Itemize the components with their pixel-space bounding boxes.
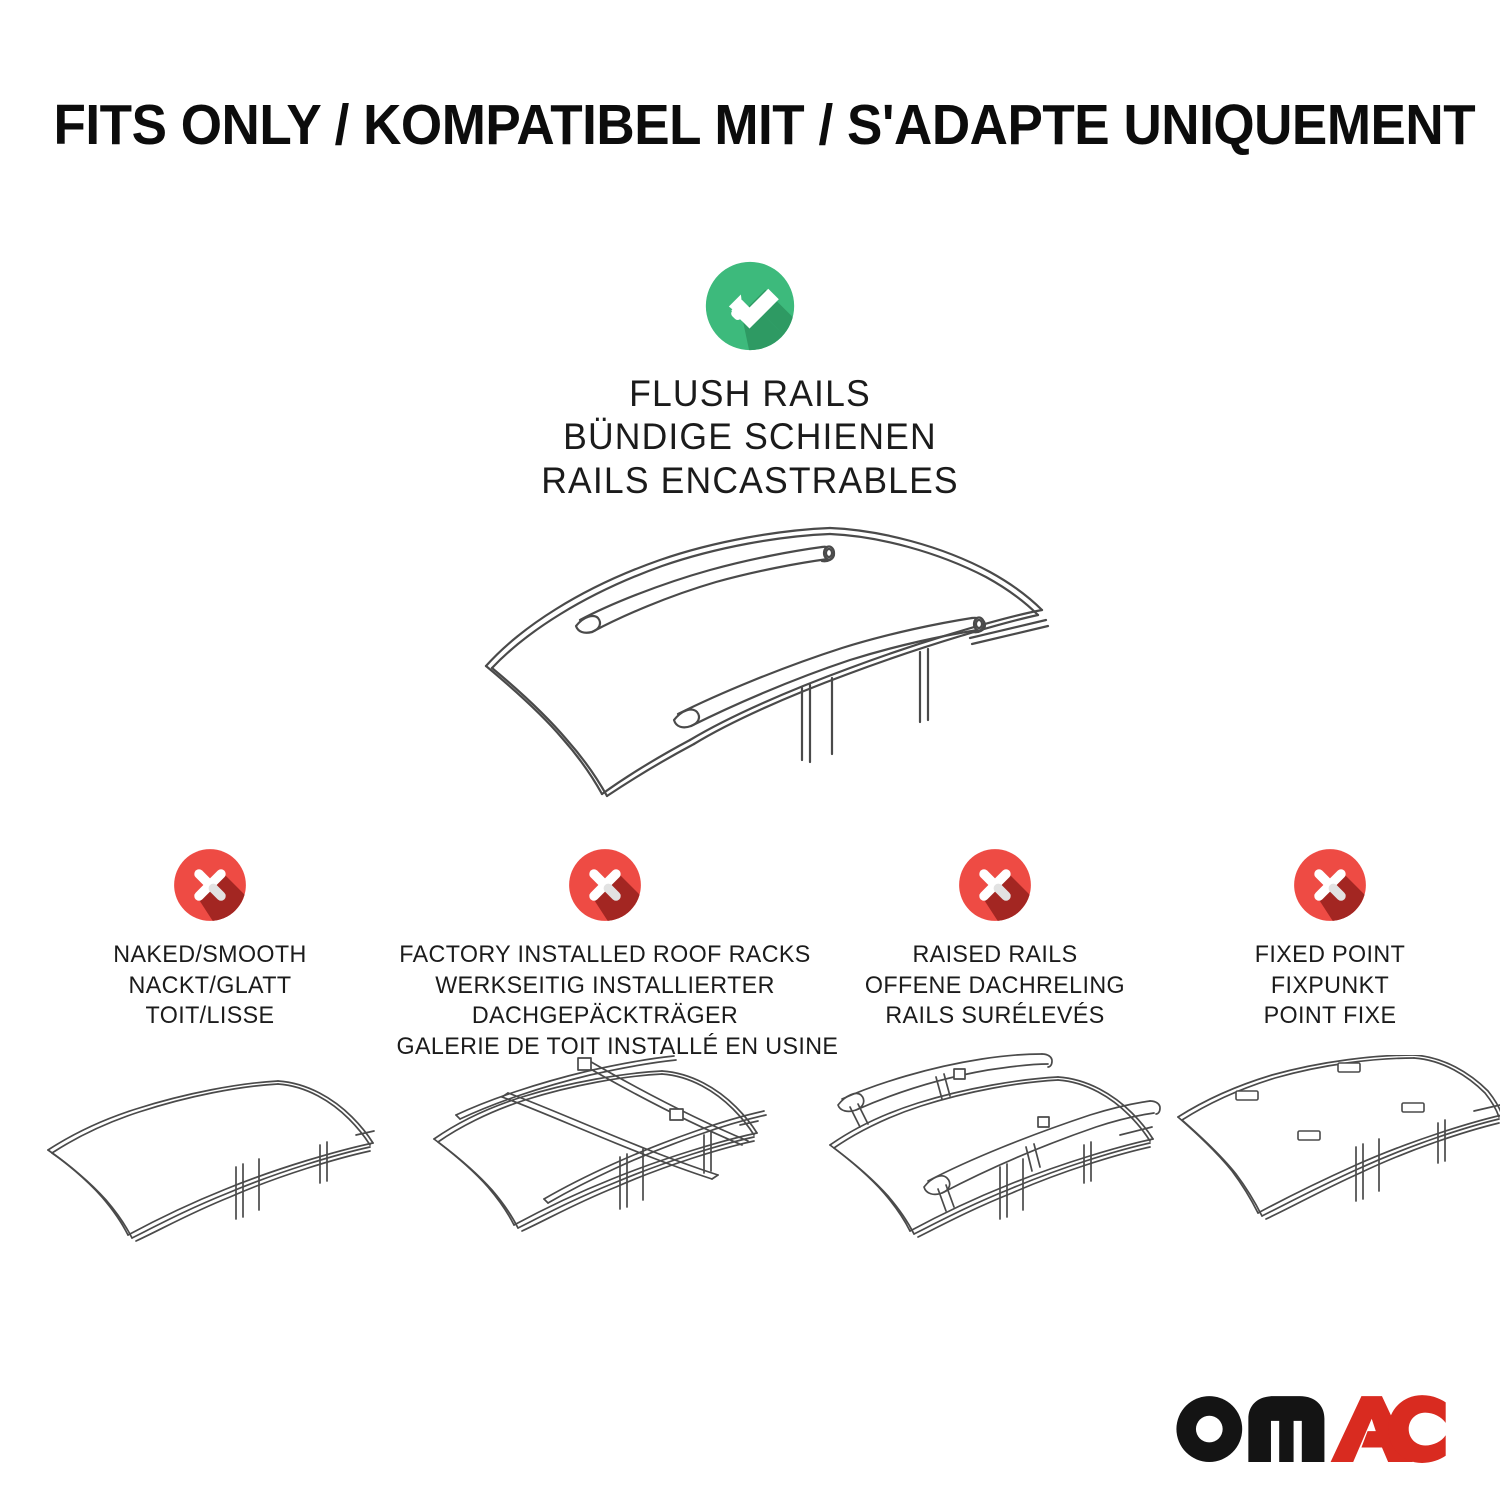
incompatible-label-en: FIXED POINT [1185, 940, 1476, 971]
car-roof-naked-smooth-illustration [40, 1055, 390, 1305]
omac-logo [1170, 1390, 1448, 1464]
incompatible-item-fixed-point: FIXED POINT FIXPUNKT POINT FIXE [1180, 846, 1480, 1032]
logo-letter-m [1248, 1396, 1324, 1462]
incompatible-item-naked-smooth: NAKED/SMOOTH NACKT/GLATT TOIT/LISSE [30, 846, 390, 1032]
compatible-label-de: BÜNDIGE SCHIENEN [30, 415, 1470, 458]
incompatible-labels: RAISED RAILS OFFENE DACHRELING RAILS SUR… [825, 940, 1165, 1032]
compatible-label-en: FLUSH RAILS [30, 372, 1470, 415]
compatible-labels: FLUSH RAILS BÜNDIGE SCHIENEN RAILS ENCAS… [30, 372, 1470, 502]
incompatible-label-de: OFFENE DACHRELING [825, 971, 1165, 1002]
cross-circle-icon [566, 846, 644, 924]
incompatible-label-de: NACKT/GLATT [35, 971, 384, 1002]
car-roof-factory-roof-racks-illustration [412, 1053, 772, 1303]
incompatible-label-fr: TOIT/LISSE [35, 1001, 384, 1032]
check-circle-icon [702, 258, 798, 354]
car-roof-raised-rails-illustration [802, 1053, 1162, 1303]
incompatible-item-factory-roof-racks: FACTORY INSTALLED ROOF RACKS WERKSEITIG … [390, 846, 820, 1063]
incompatible-labels: FIXED POINT FIXPUNKT POINT FIXE [1185, 940, 1476, 1032]
car-roof-fixed-point-illustration [1162, 1055, 1500, 1305]
compatible-label-fr: RAILS ENCASTRABLES [30, 459, 1470, 502]
incompatible-labels: NAKED/SMOOTH NACKT/GLATT TOIT/LISSE [35, 940, 384, 1032]
incompatible-label-de: FIXPUNKT [1185, 971, 1476, 1002]
cross-circle-icon [1291, 846, 1369, 924]
incompatible-illustrations-row [0, 1055, 1500, 1315]
page-title-bar: FITS ONLY / KOMPATIBEL MIT / S'ADAPTE UN… [0, 96, 1500, 156]
page-title: FITS ONLY / KOMPATIBEL MIT / S'ADAPTE UN… [54, 96, 1476, 156]
incompatible-label-en: FACTORY INSTALLED ROOF RACKS [396, 940, 813, 971]
incompatible-label-fr: RAILS SURÉLEVÉS [825, 1001, 1165, 1032]
cross-circle-icon [956, 846, 1034, 924]
incompatible-item-raised-rails: RAISED RAILS OFFENE DACHRELING RAILS SUR… [820, 846, 1170, 1032]
car-roof-with-flush-rails-illustration [450, 516, 1050, 806]
incompatible-label-de-1: WERKSEITIG INSTALLIERTER [396, 971, 813, 1002]
incompatible-label-en: NAKED/SMOOTH [35, 940, 384, 971]
incompatible-labels: FACTORY INSTALLED ROOF RACKS WERKSEITIG … [396, 940, 813, 1063]
incompatible-label-en: RAISED RAILS [825, 940, 1165, 971]
logo-letter-o [1176, 1396, 1242, 1462]
compatible-section: FLUSH RAILS BÜNDIGE SCHIENEN RAILS ENCAS… [0, 258, 1500, 806]
incompatible-label-de-2: DACHGEPÄCKTRÄGER [396, 1001, 813, 1032]
cross-circle-icon [171, 846, 249, 924]
incompatible-label-fr: POINT FIXE [1185, 1001, 1476, 1032]
incompatible-section: NAKED/SMOOTH NACKT/GLATT TOIT/LISSE [0, 846, 1500, 1063]
